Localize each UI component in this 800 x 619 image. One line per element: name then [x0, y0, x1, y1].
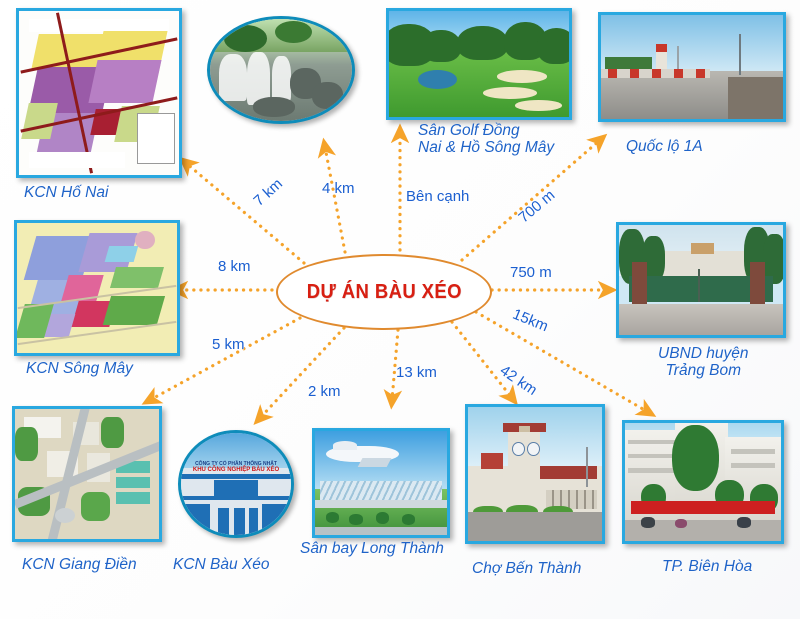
photo-san-golf[interactable]	[386, 8, 572, 120]
photo-san-bay-long-thanh[interactable]	[312, 428, 450, 538]
photo-waterfall[interactable]	[207, 16, 355, 124]
link-cho-ben-thanh	[452, 322, 512, 398]
distance-label-waterfall: 4 km	[322, 180, 355, 197]
sign-kcn-bau-xeo-line2: KHU CÔNG NGHIỆP BÀU XÉO	[188, 467, 285, 473]
caption-kcn-bau-xeo: KCN Bàu Xéo	[173, 556, 270, 573]
art-kcn-song-may	[17, 223, 177, 353]
photo-cho-ben-thanh[interactable]	[465, 404, 605, 544]
center-node-du-an-bau-xeo[interactable]: DỰ ÁN BÀU XÉO	[276, 254, 492, 330]
distance-label-kcn-bau-xeo: 2 km	[308, 383, 341, 400]
link-kcn-bau-xeo	[260, 328, 344, 418]
caption-cho-ben-thanh: Chợ Bến Thành	[472, 560, 581, 577]
photo-kcn-bau-xeo[interactable]: CÔNG TY CỔ PHẦN THỐNG NHẤT KHU CÔNG NGHI…	[178, 430, 294, 538]
photo-tp-bien-hoa[interactable]	[622, 420, 784, 544]
link-waterfall	[325, 147, 345, 252]
photo-kcn-giang-dien[interactable]	[12, 406, 162, 542]
center-node-title: DỰ ÁN BÀU XÉO	[306, 281, 461, 304]
distance-label-kcn-song-may: 8 km	[218, 258, 251, 275]
caption-san-golf: Sân Golf Đồng Nai & Hồ Sông Mây	[418, 122, 554, 157]
art-kcn-bau-xeo: CÔNG TY CỔ PHẦN THỐNG NHẤT KHU CÔNG NGHI…	[181, 433, 291, 535]
art-kcn-giang-dien	[15, 409, 159, 539]
caption-kcn-giang-dien: KCN Giang Điền	[22, 556, 137, 573]
infographic-canvas: KCN Hố Nai Sân Go	[0, 0, 800, 619]
photo-quoc-lo-1a[interactable]	[598, 12, 786, 122]
caption-tp-bien-hoa: TP. Biên Hòa	[662, 558, 752, 575]
caption-quoc-lo-1a: Quốc lộ 1A	[626, 138, 703, 155]
art-tp-bien-hoa	[625, 423, 781, 541]
art-kcn-ho-nai	[19, 11, 179, 175]
distance-label-san-bay-long-thanh: 13 km	[396, 364, 437, 381]
caption-kcn-song-may: KCN Sông Mây	[26, 360, 133, 377]
photo-kcn-ho-nai[interactable]	[16, 8, 182, 178]
art-san-bay-long-thanh	[315, 431, 447, 535]
caption-san-bay-long-thanh: Sân bay Long Thành	[300, 540, 444, 557]
distance-label-ubnd-trang-bom: 750 m	[510, 264, 552, 281]
art-waterfall	[210, 19, 352, 121]
art-san-golf	[389, 11, 569, 117]
photo-kcn-song-may[interactable]	[14, 220, 180, 356]
distance-label-kcn-giang-dien: 5 km	[212, 336, 245, 353]
caption-ubnd-trang-bom: UBND huyện Trảng Bom	[658, 345, 748, 380]
distance-label-san-golf: Bên cạnh	[406, 188, 469, 205]
art-cho-ben-thanh	[468, 407, 602, 541]
caption-kcn-ho-nai: KCN Hố Nai	[24, 184, 108, 201]
art-ubnd-trang-bom	[619, 225, 783, 335]
link-kcn-ho-nai	[186, 163, 304, 263]
art-quoc-lo-1a	[601, 15, 783, 119]
sign-kcn-bau-xeo-line1: CÔNG TY CỔ PHẦN THỐNG NHẤT	[190, 461, 282, 467]
photo-ubnd-trang-bom[interactable]	[616, 222, 786, 338]
